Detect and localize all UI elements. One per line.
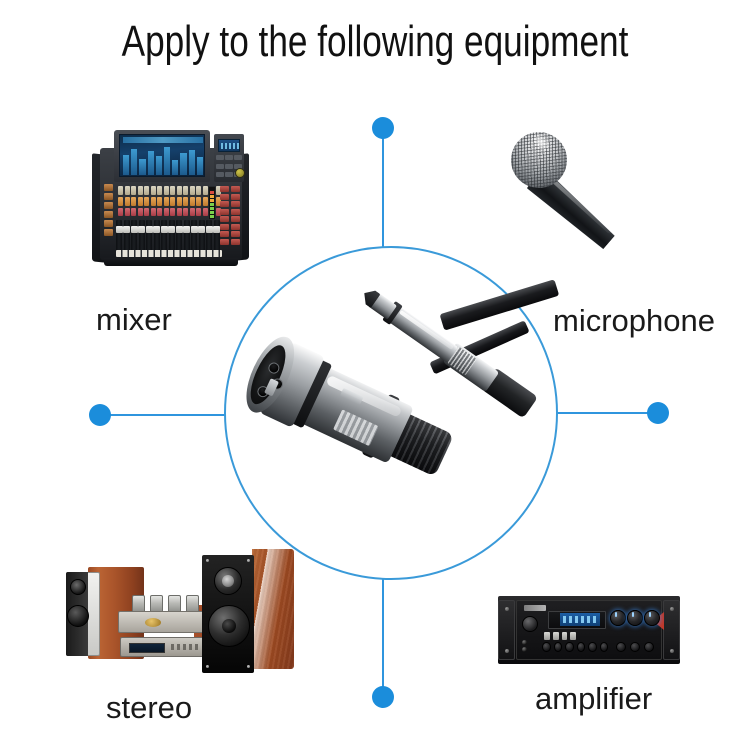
amplifier-label: amplifier: [535, 681, 652, 717]
xlr-pin-1: [267, 361, 282, 376]
mixer-button-row-a: [118, 186, 222, 195]
mixer-base: [104, 258, 238, 266]
page-title: Apply to the following equipment: [75, 16, 675, 68]
mixer-left-button-column: [104, 184, 113, 238]
stereo-baffle-screw: [206, 559, 209, 562]
amplifier-tone-knobs: [610, 610, 660, 632]
amplifier-rack-ear-right: [663, 600, 680, 660]
stereo-tube-amplifier: [118, 611, 204, 633]
stereo-front-speaker-cabinet: [252, 549, 294, 669]
stereo-front-woofer: [208, 605, 250, 647]
mixer-rotary-knob: [235, 168, 245, 178]
stereo-image: [62, 545, 294, 680]
product-cable-image: [236, 300, 554, 530]
mixer-screen-header: [123, 137, 203, 143]
amplifier-channel-knobs: [542, 642, 608, 653]
connector-line-left: [108, 414, 226, 416]
microphone-image: [505, 130, 655, 250]
connector-line-right: [556, 412, 652, 414]
stereo-baffle-screw: [247, 559, 250, 562]
mixer-level-meter: [208, 186, 216, 220]
mixer-lcd-readout: [218, 139, 240, 152]
stereo-rear-woofer: [67, 605, 89, 627]
stereo-label: stereo: [106, 690, 192, 726]
amplifier-image: [498, 596, 680, 664]
amplifier-preset-buttons: [544, 632, 576, 640]
mixer-button-row-b: [118, 197, 222, 206]
stereo-rear-tweeter: [70, 579, 86, 595]
connector-dot-right: [647, 402, 669, 424]
connector-dot-bottom: [372, 686, 394, 708]
stereo-baffle-screw: [206, 665, 209, 668]
microphone-label: microphone: [553, 303, 715, 339]
mixer-button-row-c: [118, 208, 222, 216]
microphone-grille: [499, 120, 578, 199]
amplifier-brand-mark: [524, 605, 546, 611]
amplifier-rack-ear-left: [498, 600, 515, 660]
amplifier-lcd-display: [560, 613, 600, 626]
connector-line-top: [382, 136, 384, 248]
stereo-baffle-screw: [247, 665, 250, 668]
stereo-cd-player: [120, 637, 208, 657]
amplifier-input-jacks: [522, 640, 538, 652]
connector-dot-top: [372, 117, 394, 139]
mixer-display-screen: [119, 134, 205, 177]
mixer-screen-channel-bars: [123, 144, 203, 175]
stereo-front-tweeter: [214, 567, 242, 595]
amplifier-volume-knob: [522, 616, 538, 632]
connector-dot-left: [89, 404, 111, 426]
mixer-image: [92, 128, 250, 268]
mixer-channel-label-strip: [116, 250, 222, 257]
connector-line-bottom: [382, 578, 384, 688]
amplifier-output-knobs: [616, 642, 658, 653]
infographic-page: Apply to the following equipment: [0, 0, 750, 750]
mixer-label: mixer: [96, 302, 172, 338]
